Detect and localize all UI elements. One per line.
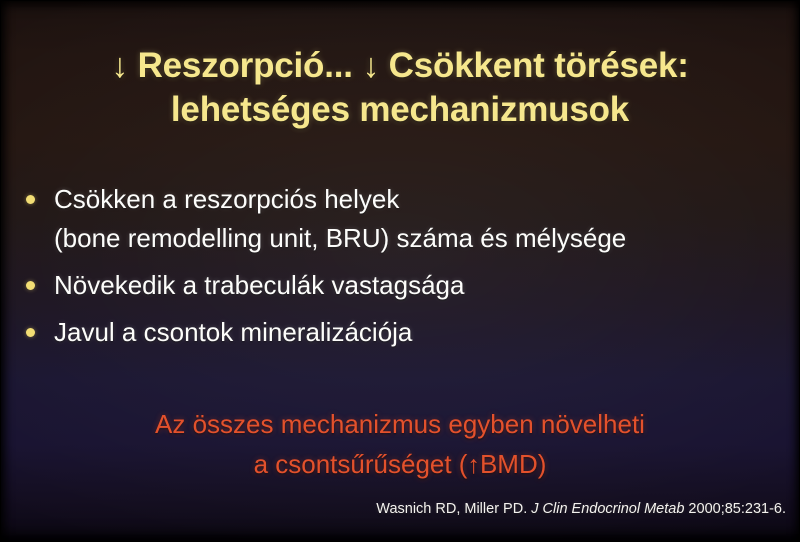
list-item-line-2: (bone remodelling unit, BRU) száma és mé… (54, 219, 626, 258)
bullet-dot-icon (26, 281, 35, 290)
citation-journal: J Clin Endocrinol Metab (531, 501, 684, 517)
highlight-conclusion: Az összes mechanizmus egyben növelheti a… (0, 404, 800, 485)
slide-canvas: ↓ Reszorpció... ↓ Csökkent törések: lehe… (0, 0, 800, 542)
title-line-2: lehetséges mechanizmusok (0, 88, 800, 132)
title-text-2: Csökkent törések: (379, 46, 689, 85)
bullet-dot-icon (26, 195, 35, 204)
list-item: Javul a csontok mineralizációja (22, 313, 776, 352)
slide-title: ↓ Reszorpció... ↓ Csökkent törések: lehe… (0, 44, 800, 132)
list-item-text: Javul a csontok mineralizációja (54, 313, 412, 352)
citation-authors: Wasnich RD, Miller PD. (376, 501, 531, 517)
bullet-list: Csökken a reszorpciós helyek (bone remod… (22, 180, 776, 360)
list-item-line-1: Javul a csontok mineralizációja (54, 317, 412, 347)
arrow-down-icon-1: ↓ (111, 47, 128, 85)
highlight-text-prefix: a csontsűrűséget ( (254, 449, 468, 479)
list-item-text: Csökken a reszorpciós helyek (bone remod… (54, 180, 626, 258)
list-item-text: Növekedik a trabeculák vastagsága (54, 266, 464, 305)
list-item: Csökken a reszorpciós helyek (bone remod… (22, 180, 776, 258)
citation-details: 2000;85:231-6. (684, 501, 786, 517)
highlight-line-1: Az összes mechanizmus egyben növelheti (155, 409, 645, 439)
slide-content: ↓ Reszorpció... ↓ Csökkent törések: lehe… (0, 0, 800, 542)
arrow-up-icon: ↑ (467, 451, 480, 479)
list-item: Növekedik a trabeculák vastagsága (22, 266, 776, 305)
highlight-text-suffix: BMD) (480, 449, 546, 479)
arrow-down-icon-2: ↓ (362, 47, 379, 85)
highlight-line-2: a csontsűrűséget (↑BMD) (0, 444, 800, 485)
title-line-1: ↓ Reszorpció... ↓ Csökkent törések: (111, 46, 688, 85)
bullet-dot-icon (26, 328, 35, 337)
list-item-line-1: Csökken a reszorpciós helyek (54, 184, 399, 214)
list-item-line-1: Növekedik a trabeculák vastagsága (54, 270, 464, 300)
title-text-1: Reszorpció... (128, 46, 362, 85)
citation: Wasnich RD, Miller PD. J Clin Endocrinol… (0, 500, 786, 519)
